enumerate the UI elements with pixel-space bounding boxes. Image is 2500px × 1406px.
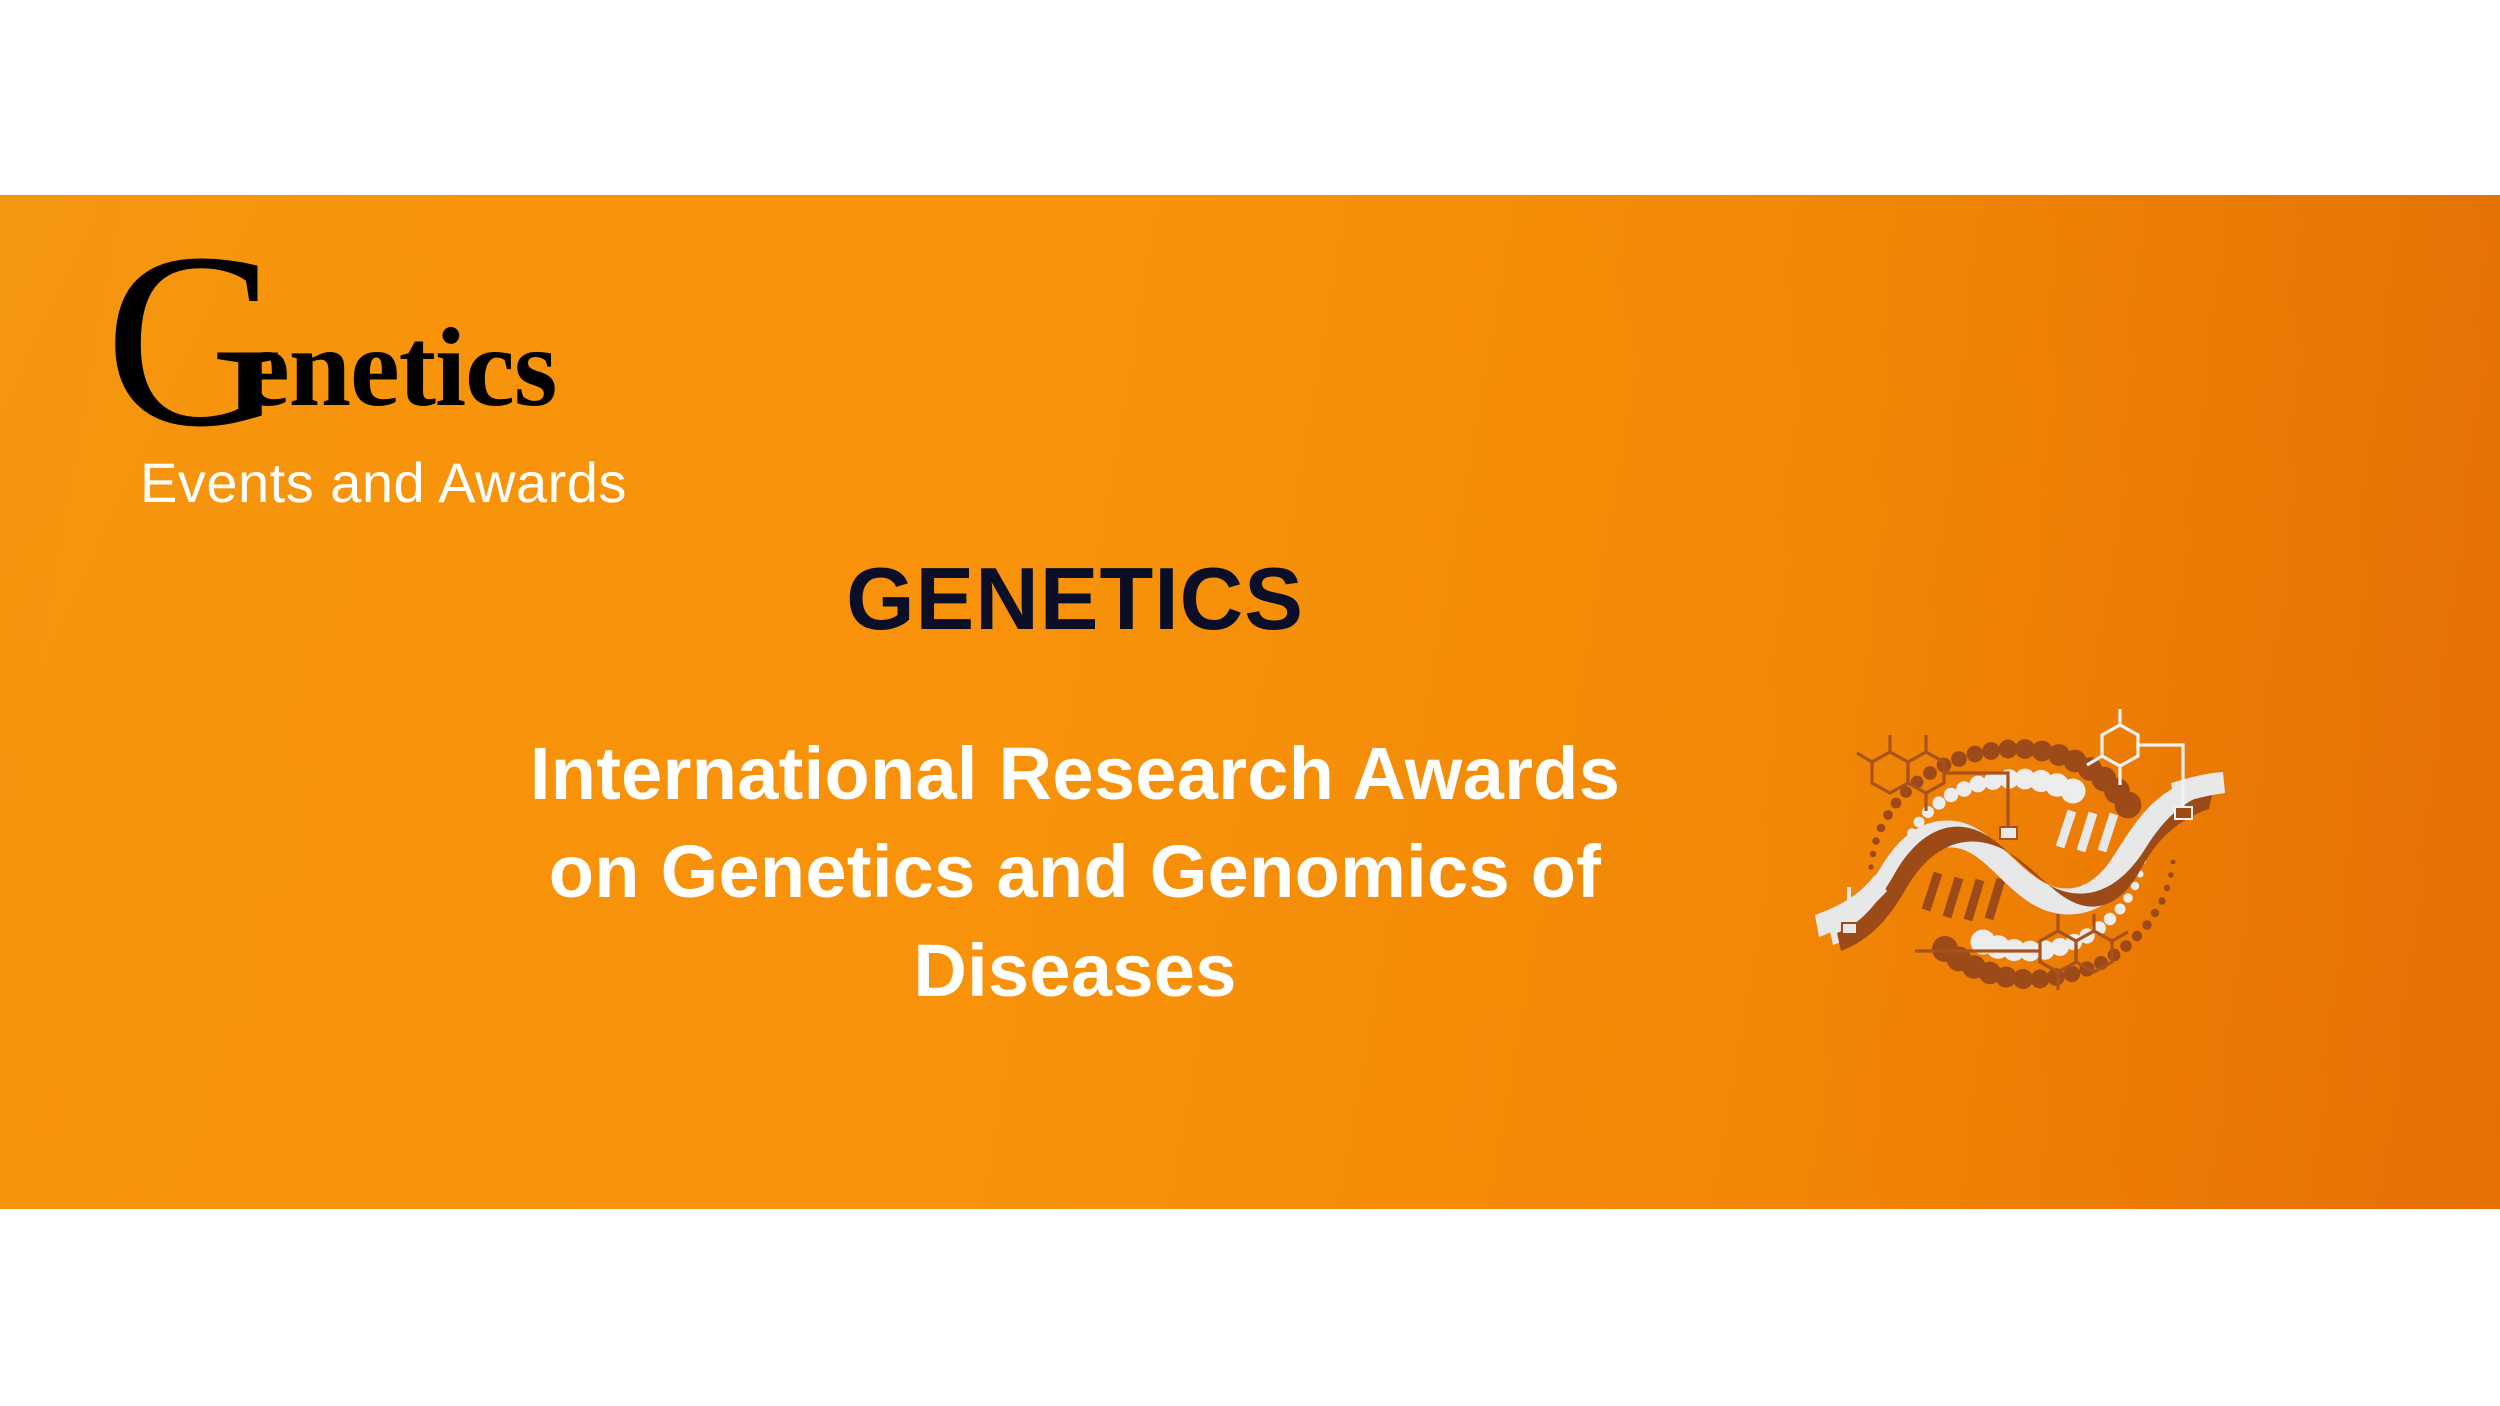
dna-helix [1815, 772, 2225, 951]
dna-double-helix-icon [1795, 635, 2245, 1085]
event-title-line-2: on Genetics and Genomics of [430, 823, 1720, 921]
event-title-line-3: Diseases [430, 922, 1720, 1020]
event-kicker: GENETICS [430, 555, 1720, 643]
logo-tagline: Events and Awards [140, 455, 627, 511]
helix-rungs-white [2060, 811, 2114, 851]
event-title: International Research Awards on Genetic… [430, 725, 1720, 1020]
logo-wordmark-rest: enetics [240, 312, 556, 424]
brand-logo: G enetics Events and Awards [105, 250, 665, 450]
helix-rungs-brown [1926, 873, 2001, 920]
logo-wordmark: G enetics [105, 250, 665, 450]
event-title-line-1: International Research Awards [430, 725, 1720, 823]
headline-area: GENETICS International Research Awards o… [430, 555, 1720, 1020]
banner-page: G enetics Events and Awards GENETICS Int… [0, 0, 2500, 1406]
event-banner: G enetics Events and Awards GENETICS Int… [0, 195, 2500, 1209]
